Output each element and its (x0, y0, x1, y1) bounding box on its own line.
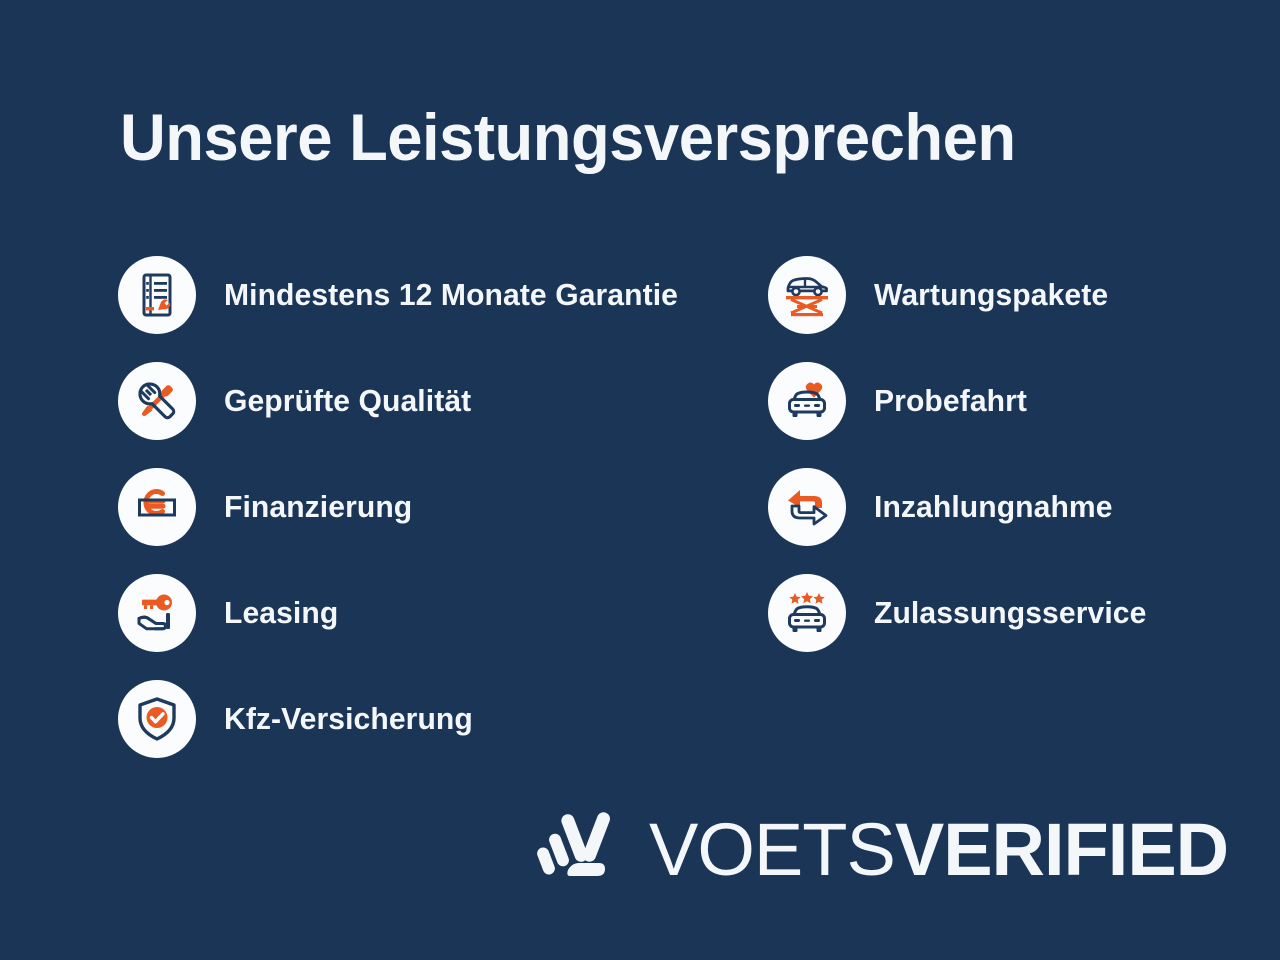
icon-badge (118, 362, 196, 440)
page-title: Unsere Leistungsversprechen (120, 104, 1138, 170)
feature-label: Finanzierung (224, 489, 412, 525)
feature-item: Leasing (118, 573, 778, 653)
icon-badge (768, 362, 846, 440)
feature-list-left: Mindestens 12 Monate Garantie (118, 255, 778, 785)
car-stars-icon (780, 586, 834, 640)
feature-item: Inzahlungnahme (768, 467, 1238, 547)
document-wrench-icon (131, 269, 183, 321)
feature-item: Zulassungsservice (768, 573, 1238, 653)
feature-item: Kfz-Versicherung (118, 679, 778, 759)
feature-item: Probefahrt (768, 361, 1238, 441)
euro-banknote-icon (131, 481, 183, 533)
feature-item: Mindestens 12 Monate Garantie (118, 255, 778, 335)
feature-label: Zulassungsservice (874, 595, 1146, 631)
feature-item: Finanzierung (118, 467, 778, 547)
feature-label: Mindestens 12 Monate Garantie (224, 277, 678, 313)
feature-label: Leasing (224, 595, 338, 631)
shield-check-icon (131, 693, 183, 745)
icon-badge (118, 680, 196, 758)
feature-label: Kfz-Versicherung (224, 701, 473, 737)
voets-v-mark-icon (537, 807, 623, 893)
car-heart-icon (780, 374, 834, 428)
feature-label: Inzahlungnahme (874, 489, 1113, 525)
icon-badge (768, 468, 846, 546)
feature-label: Geprüfte Qualität (224, 383, 471, 419)
voets-verified-logo: VOETSVERIFIED (537, 800, 1228, 900)
feature-label: Probefahrt (874, 383, 1027, 419)
logo-name-bold: VERIFIED (895, 808, 1228, 891)
logo-wordmark: VOETSVERIFIED (649, 813, 1228, 887)
car-on-lift-icon (780, 268, 834, 322)
feature-item: Wartungspakete (768, 255, 1238, 335)
icon-badge (118, 468, 196, 546)
key-in-hand-icon (131, 587, 183, 639)
logo-name-light: VOETS (649, 808, 895, 891)
icon-badge (768, 256, 846, 334)
promise-board: Unsere Leistungsversprechen (0, 0, 1280, 960)
icon-badge (118, 256, 196, 334)
icon-badge (768, 574, 846, 652)
feature-list-right: Wartungspakete Probe (768, 255, 1238, 679)
exchange-arrows-icon (780, 480, 834, 534)
icon-badge (118, 574, 196, 652)
feature-label: Wartungspakete (874, 277, 1108, 313)
feature-item: Geprüfte Qualität (118, 361, 778, 441)
wrench-screwdriver-icon (131, 375, 183, 427)
